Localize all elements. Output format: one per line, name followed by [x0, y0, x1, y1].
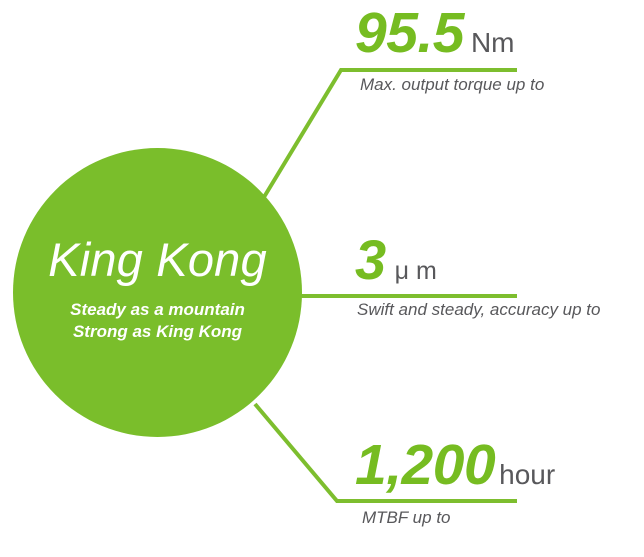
hub-title: King Kong: [48, 236, 267, 285]
king-kong-infographic: King Kong Steady as a mountain Strong as…: [0, 0, 644, 557]
stat-number-accuracy: 3: [355, 232, 386, 288]
stat-value-row-torque: 95.5 Nm: [355, 5, 544, 62]
stat-value-row-accuracy: 3 μ m: [355, 232, 600, 288]
stat-caption-mtbf: MTBF up to: [362, 508, 555, 528]
hub-tagline-line-1: Steady as a mountain: [70, 299, 245, 321]
hub-circle: King Kong Steady as a mountain Strong as…: [13, 148, 302, 437]
stat-unit-accuracy: μ m: [395, 259, 437, 284]
stat-value-row-mtbf: 1,200 hour: [355, 437, 555, 494]
stat-unit-torque: Nm: [471, 29, 515, 57]
stat-block-torque: 95.5 Nm Max. output torque up to: [355, 5, 544, 95]
stat-block-accuracy: 3 μ m Swift and steady, accuracy up to: [355, 232, 600, 320]
stat-number-mtbf: 1,200: [355, 437, 495, 494]
hub-tagline-line-2: Strong as King Kong: [73, 321, 242, 343]
stat-unit-mtbf: hour: [499, 461, 555, 489]
stat-caption-torque: Max. output torque up to: [360, 75, 544, 95]
stat-number-torque: 95.5: [355, 5, 464, 62]
stat-block-mtbf: 1,200 hour MTBF up to: [355, 437, 555, 528]
stat-caption-accuracy: Swift and steady, accuracy up to: [357, 300, 600, 320]
